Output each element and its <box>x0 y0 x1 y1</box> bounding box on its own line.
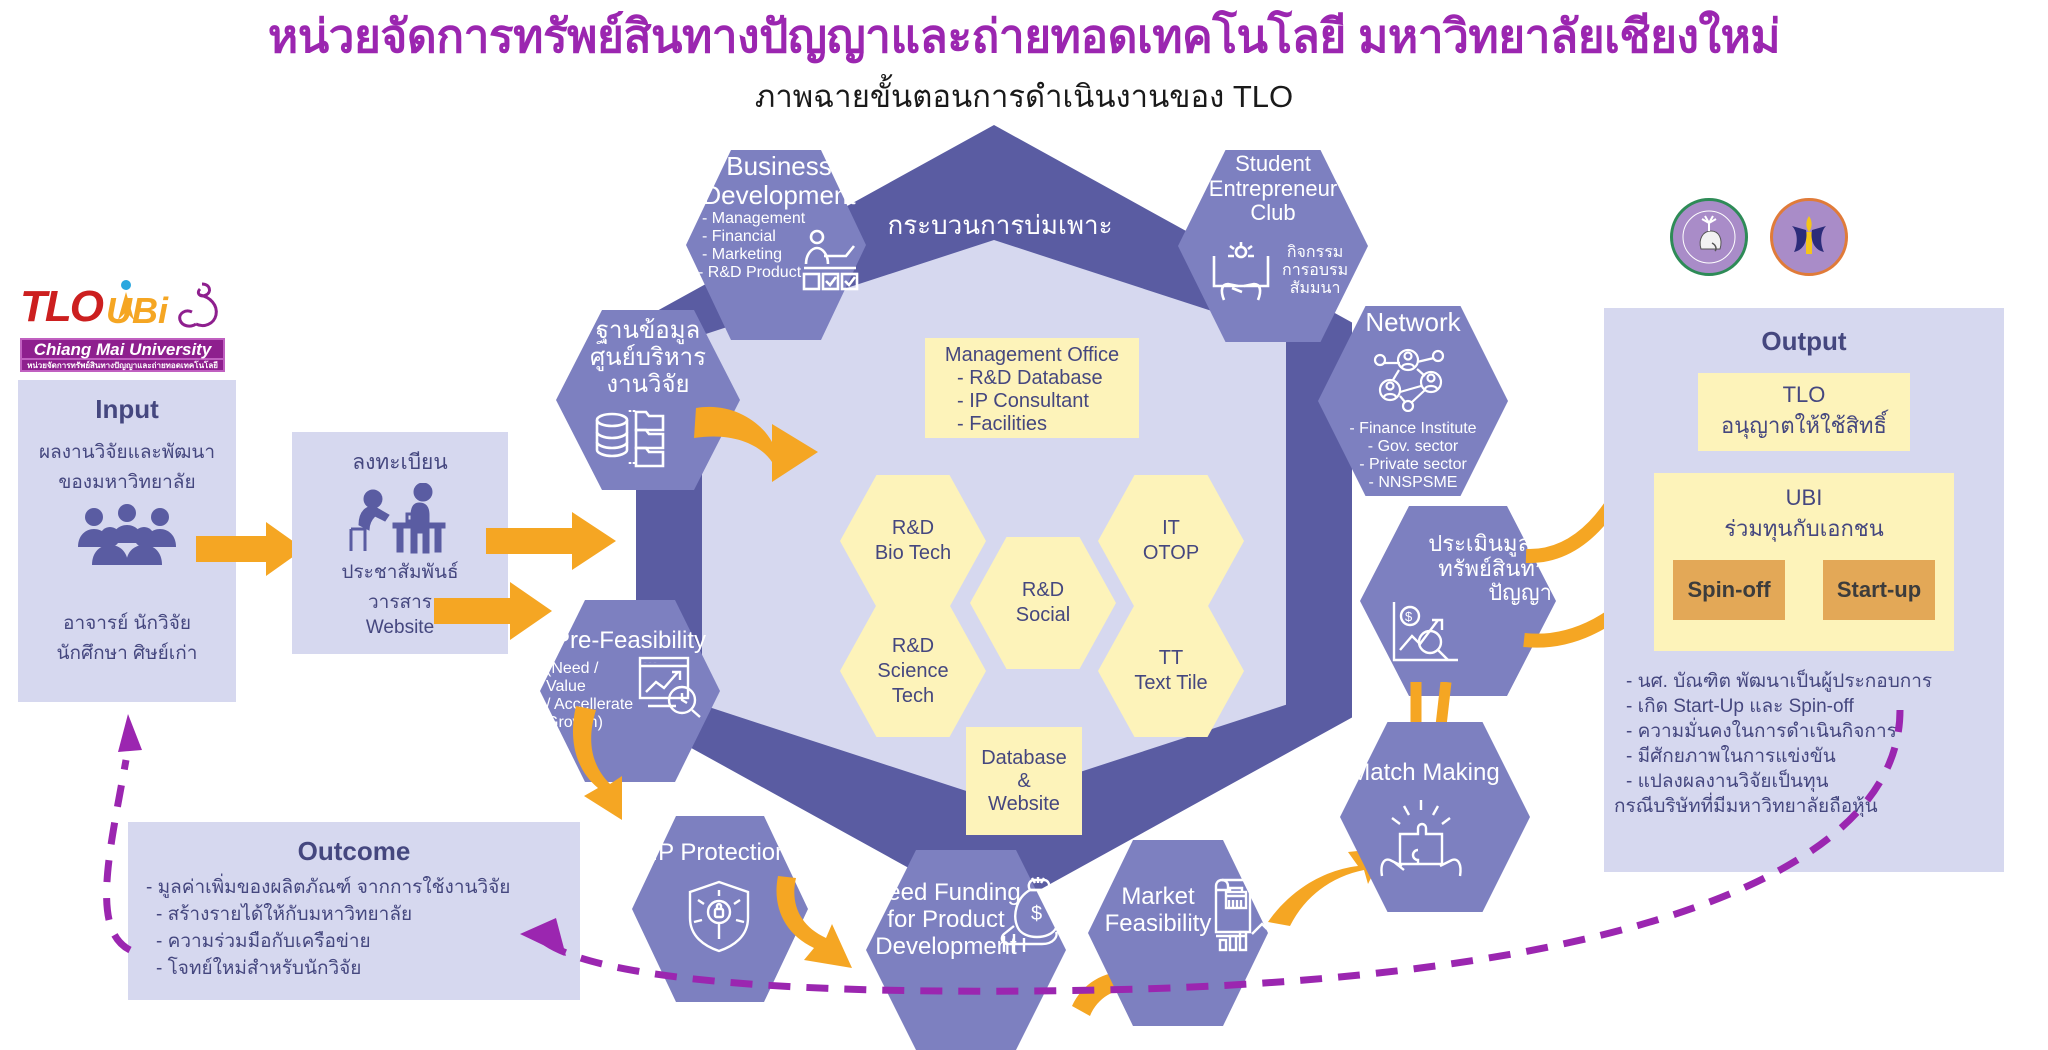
student-club-title-2: Entrepreneur <box>1178 177 1368 202</box>
logo-arrow-icon <box>112 280 148 327</box>
business-development-item-1: - Management <box>686 210 872 228</box>
management-office-box: Management Office - R&D Database - IP Co… <box>925 338 1139 438</box>
logo-tlo-text: TLO <box>20 282 102 332</box>
outcome-bullet-2: - สร้างรายได้ให้กับมหาวิทยาลัย <box>156 902 580 929</box>
inner-hex-rd-social-line-1: R&D <box>1016 578 1070 603</box>
network-item-4: - NNSPSME <box>1318 474 1508 492</box>
student-club-title-1: Student <box>1178 152 1368 177</box>
inner-hex-it-otop-line-1: IT <box>1143 516 1199 541</box>
svg-text:$: $ <box>1405 609 1413 624</box>
output-start-up-button[interactable]: Start-up <box>1823 560 1935 620</box>
outcome-title: Outcome <box>128 836 580 867</box>
research-db-content: ฐานข้อมูล ศูนย์บริหาร งานวิจัย <box>556 318 740 399</box>
database-website-line-1: Database <box>981 747 1067 770</box>
desk-meeting-icon <box>337 483 463 555</box>
arrow-input-to-registration <box>196 520 306 583</box>
management-office-item-2: - IP Consultant <box>925 390 1139 413</box>
dollar-growth-search-icon: $ <box>1388 598 1464 673</box>
output-bullet-1: - นศ. บัณฑิต พัฒนาเป็นผู้ประกอบการ <box>1626 669 2004 694</box>
inner-hex-tt-text-tile-line-1: TT <box>1134 646 1207 671</box>
output-panel: Output TLO อนุญาตให้ใช้สิทธิ์ UBI ร่วมทุ… <box>1604 308 2004 872</box>
student-club-side-text: กิจกรรม การอบรม สัมมนา <box>1282 244 1348 298</box>
inner-hex-rd-bio-tech-line-1: R&D <box>875 516 951 541</box>
inner-hex-tt-text-tile-line-2: Text Tile <box>1134 671 1207 696</box>
logo-thai-bar: หน่วยจัดการทรัพย์สินทางปัญญาและถ่ายทอดเท… <box>20 360 225 372</box>
management-office-item-3: - Facilities <box>925 413 1139 436</box>
page-title: หน่วยจัดการทรัพย์สินทางปัญญาและถ่ายทอดเท… <box>0 10 2048 63</box>
student-club-side-line-2: การอบรม <box>1282 262 1348 280</box>
output-spin-off-button[interactable]: Spin-off <box>1673 560 1785 620</box>
elephant-icon <box>1681 209 1737 265</box>
inner-hex-rd-science-tech-line-2: Science <box>877 659 948 684</box>
inner-hex-rd-bio-tech-line-2: Bio Tech <box>875 541 951 566</box>
logo-university-bar: Chiang Mai University <box>20 338 225 360</box>
people-group-icon <box>72 503 182 565</box>
business-development-title-1: Business <box>686 152 872 181</box>
pre-feasibility-item-1: (Need / Value <box>540 660 640 696</box>
output-ubi-line-2: ร่วมทุนกับเอกชน <box>1654 511 1954 546</box>
output-tlo-line-2: อนุญาตให้ใช้สิทธิ์ <box>1721 408 1887 443</box>
torch-icon <box>1780 208 1838 266</box>
output-bullet-4: - มีศักยภาพในการแข่งขัน <box>1626 744 2004 769</box>
research-db-title-3: งานวิจัย <box>556 372 740 399</box>
shield-lock-icon <box>684 878 754 959</box>
output-ubi-line-1: UBI <box>1654 485 1954 511</box>
output-tlo-box: TLO อนุญาตให้ใช้สิทธิ์ <box>1698 373 1910 451</box>
network-item-3: - Private sector <box>1318 456 1508 474</box>
management-office-item-1: - R&D Database <box>925 367 1139 390</box>
match-making-content: Match Making <box>1330 760 1520 787</box>
outcome-bullet-1: - มูลค่าเพิ่มของผลิตภัณฑ์ จากการใช้งานวิ… <box>146 875 580 902</box>
research-db-title-2: ศูนย์บริหาร <box>556 345 740 372</box>
pre-feasibility-content: Pre-Feasibility <box>536 628 724 655</box>
network-items: - Finance Institute - Gov. sector - Priv… <box>1318 420 1508 492</box>
logo-thai-text: หน่วยจัดการทรัพย์สินทางปัญญาและถ่ายทอดเท… <box>27 361 218 370</box>
business-development-title-2: Development <box>686 181 872 210</box>
output-bullet-5: - แปลงผลงานวิจัยเป็นทุน <box>1626 769 2004 794</box>
output-bullet-6: กรณีบริษัทที่มีมหาวิทยาลัยถือหุ้น <box>1614 794 2004 819</box>
ip-protection-title: IP Protection <box>632 840 808 867</box>
person-laptop-checklist-icon <box>800 228 862 299</box>
outcome-bullet-3: - ความร่วมมือกับเครือข่าย <box>156 929 580 956</box>
ohec-seal <box>1770 198 1848 276</box>
network-item-2: - Gov. sector <box>1318 438 1508 456</box>
output-start-up-label: Start-up <box>1837 577 1921 603</box>
registration-title: ลงทะเบียน <box>292 446 508 479</box>
network-nodes-icon <box>1368 338 1452 417</box>
presentation-hands-icon <box>1206 238 1276 307</box>
input-footer: อาจารย์ นักวิจัย นักศึกษา ศิษย์เก่า <box>18 602 236 702</box>
svg-text:$: $ <box>1031 903 1042 925</box>
outcome-bullet-list: - มูลค่าเพิ่มของผลิตภัณฑ์ จากการใช้งานวิ… <box>128 867 580 983</box>
arrow-into-prefeasibility <box>434 580 554 647</box>
network-item-1: - Finance Institute <box>1318 420 1508 438</box>
arrow-db-to-core <box>690 398 822 495</box>
input-footer-line-1: อาจารย์ นักวิจัย <box>18 602 236 638</box>
match-making-title: Match Making <box>1330 760 1520 787</box>
database-website-box: Database & Website <box>966 727 1082 835</box>
ip-protection-content: IP Protection <box>632 840 808 867</box>
page-subtitle: ภาพฉายขั้นตอนการดำเนินงานของ TLO <box>0 78 2048 115</box>
input-footer-line-2: นักศึกษา ศิษย์เก่า <box>18 638 236 668</box>
output-tlo-line-1: TLO <box>1783 382 1826 408</box>
network-content: Network <box>1318 308 1508 337</box>
inner-hex-rd-science-tech-line-1: R&D <box>877 634 948 659</box>
pre-feasibility-title: Pre-Feasibility <box>536 628 724 655</box>
student-club-content: Student Entrepreneur Club <box>1178 152 1368 226</box>
outcome-panel: Outcome - มูลค่าเพิ่มของผลิตภัณฑ์ จากการ… <box>128 822 580 1000</box>
output-bullet-3: - ความมั่นคงในการดำเนินกิจการ <box>1626 719 2004 744</box>
puzzle-hands-icon <box>1378 798 1464 885</box>
inner-hex-it-otop-line-2: OTOP <box>1143 541 1199 566</box>
outcome-bullet-4: - โจทย์ใหม่สำหรับนักวิจัย <box>156 956 580 983</box>
database-folders-icon <box>592 404 668 473</box>
output-title: Output <box>1604 326 2004 357</box>
inner-hex-rd-science-tech-line-3: Tech <box>877 684 948 709</box>
student-club-side-line-3: สัมมนา <box>1282 280 1348 298</box>
logo-university-text: Chiang Mai University <box>34 340 212 359</box>
output-ubi-box: UBI ร่วมทุนกับเอกชน Spin-off Start-up <box>1654 473 1954 651</box>
input-title: Input <box>18 394 236 425</box>
input-line-2: ของมหาวิทยาลัย <box>18 467 236 497</box>
arrow-registration-to-core <box>486 510 618 577</box>
logo-elephant-icon <box>172 280 222 341</box>
inner-hex-rd-social-line-2: Social <box>1016 603 1070 628</box>
input-line-1: ผลงานวิจัยและพัฒนา <box>18 437 236 467</box>
student-club-title-3: Club <box>1178 201 1368 226</box>
output-bullet-list: - นศ. บัณฑิต พัฒนาเป็นผู้ประกอบการ - เกิ… <box>1604 651 2004 819</box>
network-title: Network <box>1318 308 1508 337</box>
cmu-seal <box>1670 198 1748 276</box>
management-office-heading: Management Office <box>925 344 1139 367</box>
database-website-line-3: Website <box>988 793 1060 816</box>
database-website-line-2: & <box>1017 770 1030 793</box>
output-spin-off-label: Spin-off <box>1687 577 1770 603</box>
arrow-prefeasibility-to-ip <box>566 700 676 835</box>
student-club-side-line-1: กิจกรรม <box>1282 244 1348 262</box>
tlo-ubi-logo: TLO UBi Chiang Mai University หน่วยจัดกา… <box>20 280 225 370</box>
output-bullet-2: - เกิด Start-Up และ Spin-off <box>1626 694 2004 719</box>
money-bag-hand-icon: $ <box>1000 876 1078 961</box>
research-db-title-1: ฐานข้อมูล <box>556 318 740 345</box>
